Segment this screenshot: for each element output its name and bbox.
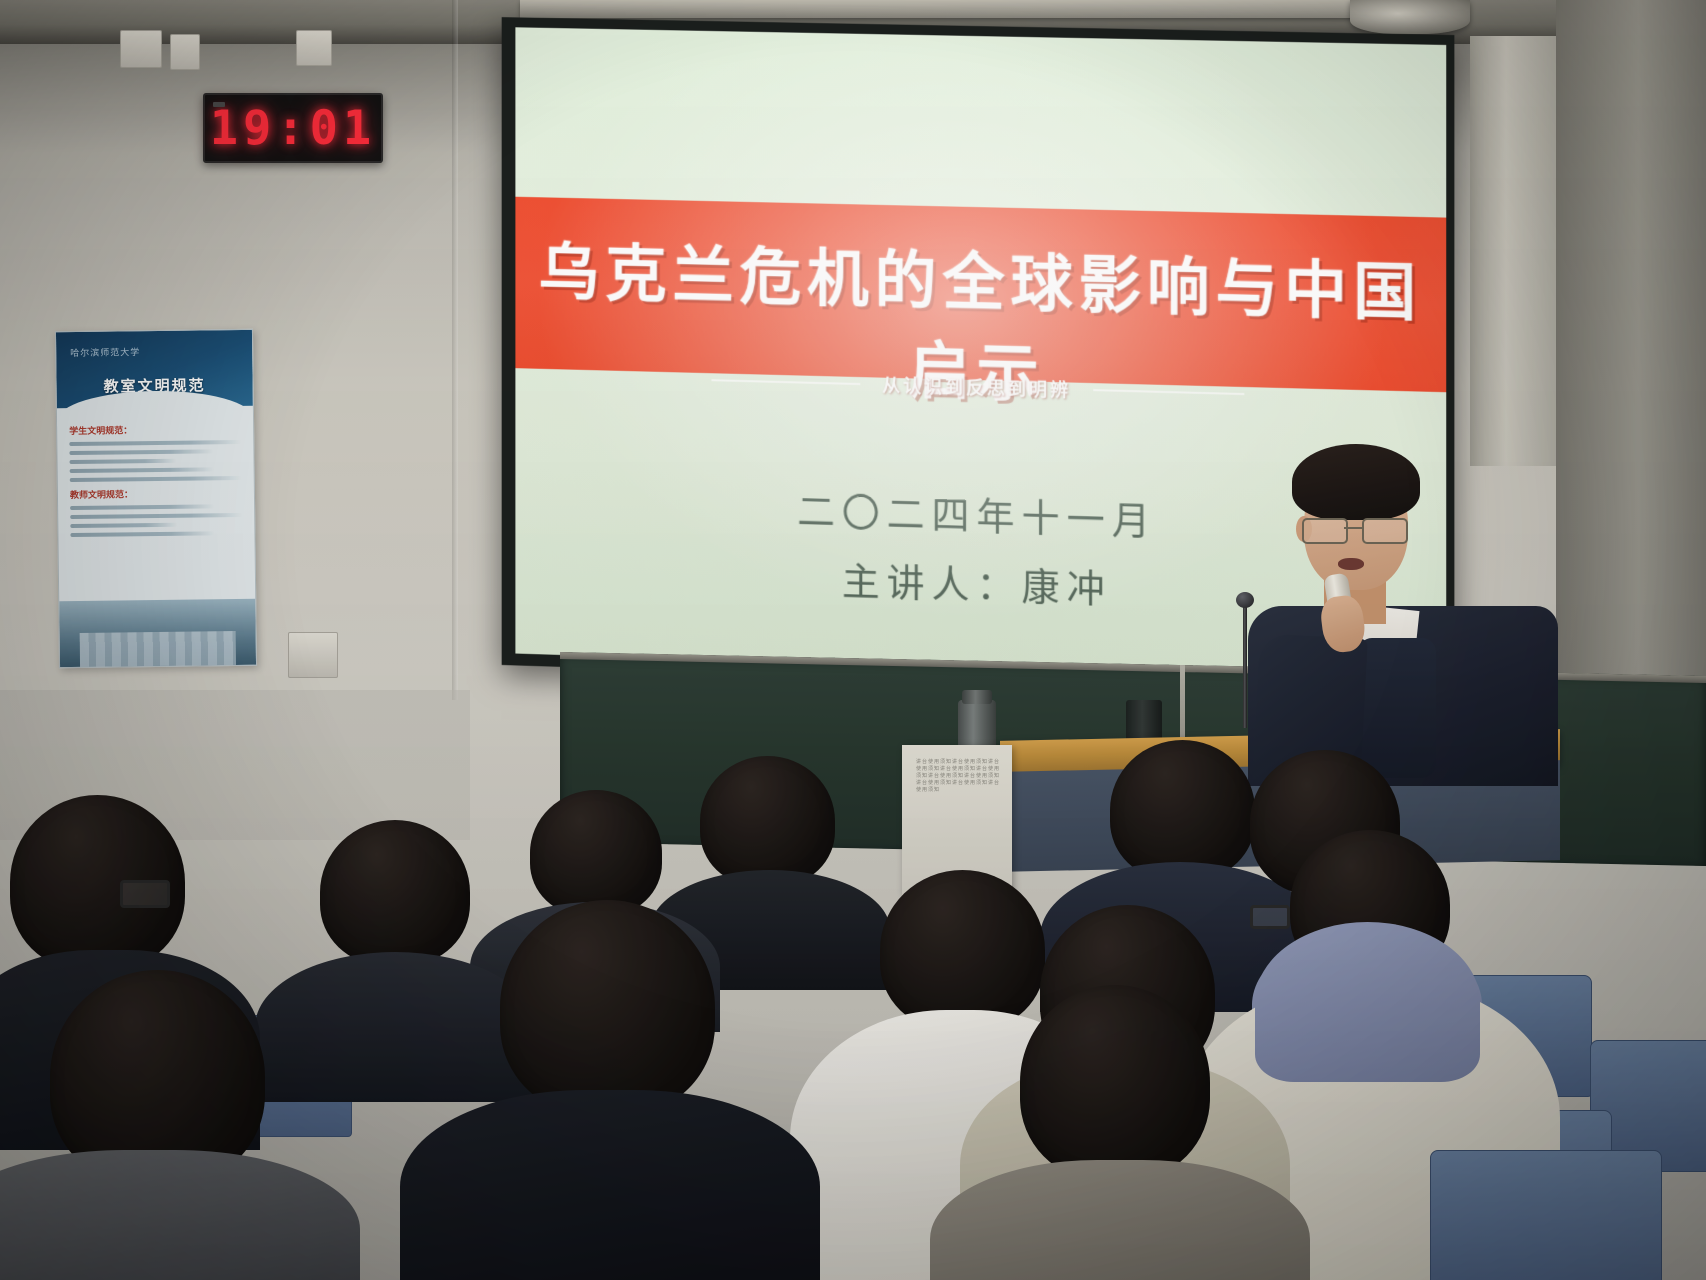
audience-head-front <box>1020 985 1210 1180</box>
presenter-hair <box>1292 444 1420 520</box>
poster-section-teachers: 教师文明规范： <box>70 486 242 501</box>
seat-back <box>1430 1150 1662 1280</box>
audience-area <box>0 720 1706 1280</box>
subtitle-rule-right <box>1093 389 1244 395</box>
presenter-mouth <box>1338 558 1364 570</box>
poster-text-line <box>70 504 215 510</box>
poster-header: 哈尔滨师范大学 教室文明规范 <box>56 330 253 408</box>
poster-text-line <box>70 523 177 528</box>
ceiling-light-fixture <box>1350 0 1470 34</box>
audience-head <box>530 790 662 916</box>
audience-shoulders <box>255 952 535 1102</box>
glasses-icon <box>1302 518 1408 540</box>
ceiling-rail <box>520 0 1360 18</box>
wall-socket <box>170 34 200 70</box>
wall-socket <box>296 30 332 66</box>
poster-university-name: 哈尔滨师范大学 <box>70 345 140 359</box>
audience-shoulders <box>400 1090 820 1280</box>
glasses-lens-left <box>1302 518 1348 544</box>
wall-far-right <box>1556 0 1706 760</box>
audience-hood-overlay <box>1255 922 1480 1082</box>
audience-shoulders <box>0 1150 360 1280</box>
wall-column-right <box>1470 36 1560 466</box>
subtitle-rule-left <box>711 379 860 385</box>
poster-text-line <box>69 440 241 446</box>
slide-subtitle: 从认识到反思到明辨 <box>882 372 1071 403</box>
clock-indicator-dot <box>213 102 225 107</box>
glasses-bridge <box>1344 527 1364 529</box>
audience-head <box>880 870 1045 1030</box>
poster-text-line <box>70 459 177 464</box>
wall-socket <box>288 632 338 678</box>
poster-campus-photo <box>59 599 256 667</box>
audience-head <box>700 756 835 886</box>
glasses-lens-right <box>1362 518 1408 544</box>
poster-text-line <box>69 449 214 455</box>
poster-text-line <box>70 467 215 473</box>
audience-glasses-icon <box>120 880 170 908</box>
poster-text-line <box>70 513 242 519</box>
presenter <box>1238 430 1568 770</box>
audience-head-front <box>500 900 715 1115</box>
wall-seam <box>452 0 458 700</box>
poster-text-line <box>70 531 215 537</box>
digital-clock: 19:01 <box>203 93 383 163</box>
clock-time-display: 19:01 <box>210 101 376 156</box>
audience-head <box>1110 740 1255 880</box>
wall-socket <box>120 30 162 68</box>
audience-head <box>320 820 470 965</box>
lecture-hall-photo: 19:01 哈尔滨师范大学 教室文明规范 学生文明规范： 教师文明规范： 乌克兰… <box>0 0 1706 1280</box>
classroom-rules-poster: 哈尔滨师范大学 教室文明规范 学生文明规范： 教师文明规范： <box>55 329 257 668</box>
poster-text-line <box>70 476 242 482</box>
audience-glasses-icon <box>1250 905 1290 929</box>
